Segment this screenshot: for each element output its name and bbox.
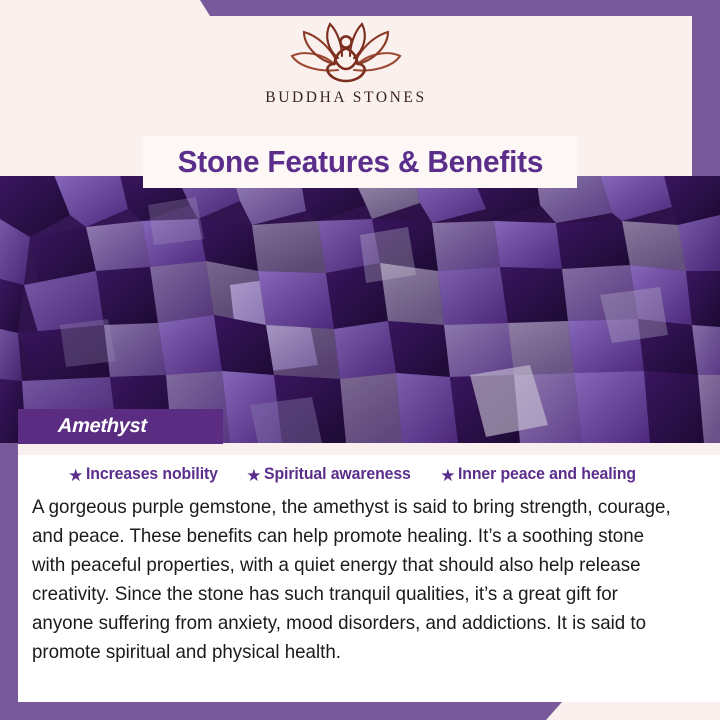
benefits-list: ★ Increases nobility ★ Spiritual awarene… xyxy=(18,455,720,484)
benefit-item: ★ Increases nobility xyxy=(68,464,228,484)
poster-root: BUDDHA STONES Stone Features & Benefits xyxy=(0,0,720,720)
brand-wordmark: BUDDHA STONES xyxy=(265,89,426,107)
stone-description: A gorgeous purple gemstone, the amethyst… xyxy=(32,493,673,667)
hero-image-amethyst xyxy=(0,175,720,443)
stone-name-label: Amethyst xyxy=(18,415,148,438)
content-panel: ★ Increases nobility ★ Spiritual awarene… xyxy=(18,455,720,702)
title-panel: Stone Features & Benefits xyxy=(143,136,577,188)
benefit-item: ★ Spiritual awareness xyxy=(246,464,422,484)
star-icon: ★ xyxy=(68,467,83,484)
benefit-label: Inner peace and healing xyxy=(458,464,636,484)
content-top-strip xyxy=(18,443,720,455)
star-icon: ★ xyxy=(440,467,455,484)
frame-bottom-accent-bar xyxy=(0,702,562,720)
star-icon: ★ xyxy=(246,467,261,484)
page-title: Stone Features & Benefits xyxy=(177,144,543,180)
brand-logo: BUDDHA STONES xyxy=(0,20,692,132)
header: BUDDHA STONES Stone Features & Benefits xyxy=(0,14,692,176)
benefit-label: Spiritual awareness xyxy=(264,464,411,484)
amethyst-crystal-cluster-photo xyxy=(0,175,720,443)
frame-top-accent-bar xyxy=(200,0,720,16)
frame-right-accent-bar xyxy=(692,14,720,176)
benefit-label: Increases nobility xyxy=(86,464,218,484)
stone-name-banner: Amethyst xyxy=(18,409,223,444)
benefit-item: ★ Inner peace and healing xyxy=(440,464,650,484)
frame-left-accent-bar xyxy=(0,443,18,705)
lotus-meditation-icon xyxy=(282,20,410,86)
